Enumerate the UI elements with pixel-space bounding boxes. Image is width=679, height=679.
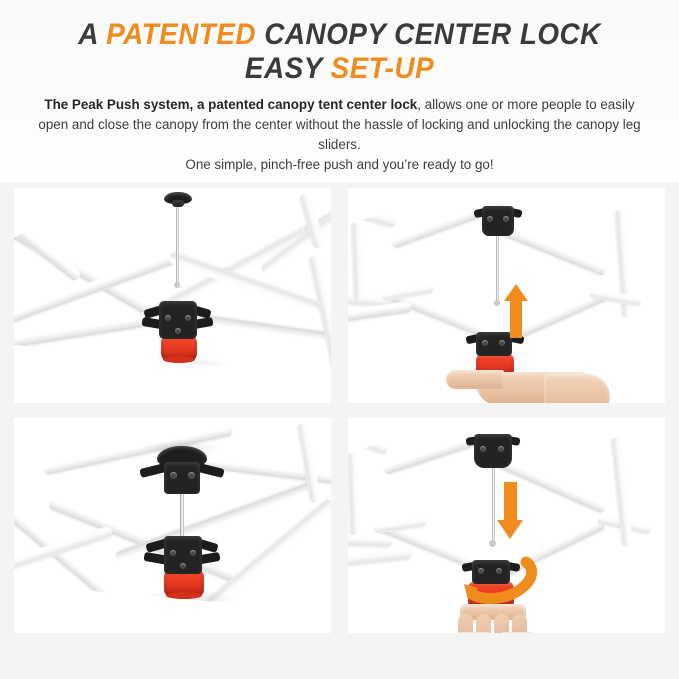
arrow-twist-icon	[458, 554, 548, 604]
arrow-twist-path	[472, 562, 532, 598]
panel-top-right-photo: Hand supporting the red center lock puck…	[348, 188, 665, 403]
headline-accent-patented: PATENTED	[106, 18, 256, 51]
hub-bolt	[487, 216, 493, 222]
header-section: A PATENTED CANOPY CENTER LOCK EASY SET-U…	[0, 0, 679, 182]
frame-tube	[348, 548, 412, 568]
panel-top-left-photo: Canopy frame underside with center lock …	[14, 188, 331, 403]
arrow-down-head	[497, 520, 523, 539]
frame-tube	[308, 255, 331, 375]
page-title: A PATENTED CANOPY CENTER LOCK EASY SET-U…	[24, 18, 655, 86]
hub-bolt	[185, 315, 191, 321]
headline-line-2: EASY SET-UP	[24, 52, 655, 86]
body-bold-phrase: The Peak Push system, a patented canopy …	[44, 97, 417, 112]
hub-bolt	[499, 340, 505, 346]
panel-bottom-right: Two hands gripping the red center lock w…	[348, 418, 665, 633]
hand-back	[544, 374, 610, 403]
frame-tube	[348, 534, 392, 548]
finger	[458, 614, 473, 633]
hub-bolt	[170, 472, 177, 479]
push-rod	[492, 466, 495, 542]
hub-bolt	[165, 315, 171, 321]
hub-bolt	[503, 216, 509, 222]
arrow-up-head	[504, 284, 528, 301]
cap-body	[164, 462, 200, 494]
headline-text-b: CANOPY CENTER LOCK	[256, 18, 601, 51]
hub-bolt	[190, 550, 196, 556]
push-rod	[180, 492, 184, 540]
finger	[476, 614, 491, 633]
panel-top-left: Canopy frame underside with center lock …	[14, 188, 331, 403]
push-rod-tip	[494, 300, 500, 306]
hub-bolt	[175, 328, 181, 334]
push-rod-tip	[174, 282, 180, 288]
frame-tube	[611, 437, 633, 548]
hub-bolt	[180, 563, 186, 569]
body-copy: The Peak Push system, a patented canopy …	[0, 95, 679, 175]
body-paragraph-1: The Peak Push system, a patented canopy …	[34, 95, 645, 155]
hub-bolt	[482, 340, 488, 346]
red-lock-puck	[161, 336, 197, 360]
product-photo-grid: Canopy frame underside with center lock …	[0, 182, 679, 679]
hub-wing	[139, 463, 166, 478]
push-rod	[496, 234, 499, 302]
hub-bolt	[498, 446, 504, 452]
panel-bottom-left: Canopy frame fully opened, upper hub and…	[14, 418, 331, 633]
push-rod-tip	[489, 540, 496, 547]
drop-shadow	[144, 440, 220, 456]
finger	[494, 614, 509, 633]
headline-line-1: A PATENTED CANOPY CENTER LOCK	[24, 18, 655, 52]
arrow-up-stem	[510, 300, 522, 338]
headline-accent-setup: SET-UP	[330, 52, 434, 85]
headline-text-c: EASY	[245, 52, 331, 85]
cap-body	[172, 200, 184, 207]
hub-body	[474, 434, 512, 468]
finger	[512, 614, 527, 633]
panel-bottom-left-photo: Canopy frame fully opened, upper hub and…	[14, 418, 331, 633]
panel-top-right: Hand supporting the red center lock puck…	[348, 188, 665, 403]
hand-fingers-extended	[446, 370, 504, 389]
hub-bolt	[170, 550, 176, 556]
hub-bolt	[188, 472, 195, 479]
panel-bottom-right-photo: Two hands gripping the red center lock w…	[348, 418, 665, 633]
push-rod	[176, 206, 179, 284]
arrow-down-stem	[504, 482, 517, 522]
body-paragraph-2: One simple, pinch-free push and you’re r…	[34, 155, 645, 175]
hub-bolt	[480, 446, 486, 452]
infographic-page: A PATENTED CANOPY CENTER LOCK EASY SET-U…	[0, 0, 679, 679]
headline-text-a: A	[78, 18, 106, 51]
